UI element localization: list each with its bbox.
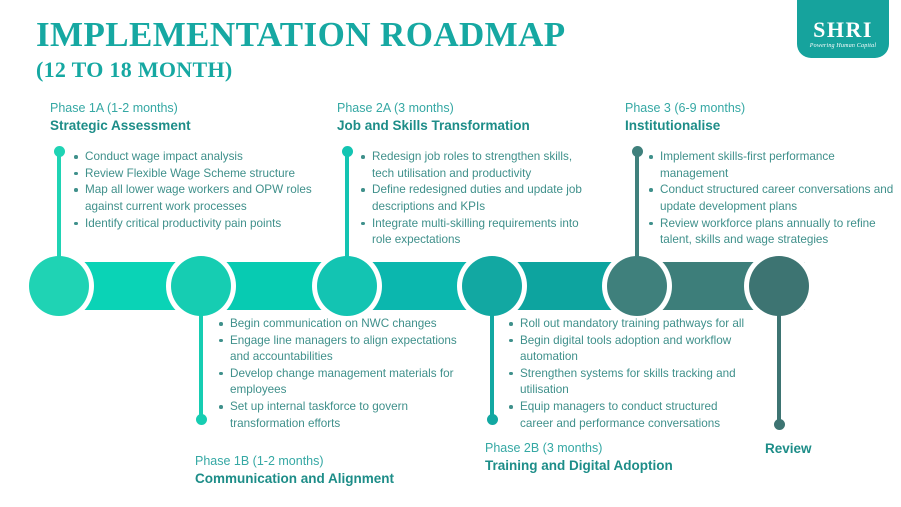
list-item: Integrate multi-skilling requirements in… — [359, 216, 597, 249]
page-title: IMPLEMENTATION ROADMAP — [36, 16, 736, 54]
list-item: Equip managers to conduct structured car… — [507, 399, 749, 432]
phase-2b-label: Phase 2B (3 months) — [485, 440, 765, 457]
phase-2a-bullets: Redesign job roles to strengthen skills,… — [359, 149, 597, 249]
list-item: Identify critical productivity pain poin… — [72, 216, 312, 233]
phase-2b-bullets: Roll out mandatory training pathways for… — [507, 316, 749, 432]
phase-1b-bullets: Begin communication on NWC changes Engag… — [217, 316, 457, 432]
phase-3-bullets: Implement skills-first performance manag… — [647, 149, 895, 249]
phase-2b-title: Training and Digital Adoption — [485, 457, 765, 475]
roadmap-infographic: IMPLEMENTATION ROADMAP (12 TO 18 MONTH) … — [0, 0, 901, 507]
list-item: Strengthen systems for skills tracking a… — [507, 366, 749, 399]
phase-block-1b: Begin communication on NWC changes Engag… — [195, 316, 475, 488]
phase-2a-title: Job and Skills Transformation — [337, 117, 607, 135]
phase-3-title: Institutionalise — [625, 117, 895, 135]
list-item: Conduct structured career conversations … — [647, 182, 895, 215]
phase-3-label: Phase 3 (6-9 months) — [625, 100, 895, 117]
list-item: Review Flexible Wage Scheme structure — [72, 166, 312, 183]
list-item: Begin communication on NWC changes — [217, 316, 457, 333]
list-item: Conduct wage impact analysis — [72, 149, 312, 166]
list-item: Redesign job roles to strengthen skills,… — [359, 149, 597, 182]
list-item: Develop change management materials for … — [217, 366, 457, 399]
phase-1a-label: Phase 1A (1-2 months) — [50, 100, 320, 117]
list-item: Map all lower wage workers and OPW roles… — [72, 182, 312, 215]
phase-block-1a: Phase 1A (1-2 months) Strategic Assessme… — [50, 100, 320, 232]
header: IMPLEMENTATION ROADMAP (12 TO 18 MONTH) — [36, 16, 736, 82]
list-item: Engage line managers to align expectatio… — [217, 333, 457, 366]
list-item: Set up internal taskforce to govern tran… — [217, 399, 457, 432]
timeline-band — [0, 262, 901, 310]
list-item: Define redesigned duties and update job … — [359, 182, 597, 215]
logo-wordmark: SHRI — [813, 19, 873, 41]
phase-1b-title: Communication and Alignment — [195, 470, 475, 488]
phase-2a-label: Phase 2A (3 months) — [337, 100, 607, 117]
list-item: Review workforce plans annually to refin… — [647, 216, 895, 249]
list-item: Implement skills-first performance manag… — [647, 149, 895, 182]
review-label: Review — [765, 441, 812, 456]
list-item: Roll out mandatory training pathways for… — [507, 316, 749, 333]
phase-block-2b: Roll out mandatory training pathways for… — [485, 316, 765, 475]
page-subtitle: (12 TO 18 MONTH) — [36, 57, 736, 82]
phase-1a-bullets: Conduct wage impact analysis Review Flex… — [72, 149, 312, 232]
list-item: Begin digital tools adoption and workflo… — [507, 333, 749, 366]
stem-cap-review — [774, 419, 785, 430]
logo-tagline: Powering Human Capital — [810, 43, 876, 49]
phase-block-2a: Phase 2A (3 months) Job and Skills Trans… — [337, 100, 607, 249]
phase-1a-title: Strategic Assessment — [50, 117, 320, 135]
stem-review — [777, 300, 781, 425]
phase-block-3: Phase 3 (6-9 months) Institutionalise Im… — [625, 100, 895, 249]
phase-1b-label: Phase 1B (1-2 months) — [195, 453, 475, 470]
shri-logo: SHRI Powering Human Capital — [797, 0, 889, 58]
